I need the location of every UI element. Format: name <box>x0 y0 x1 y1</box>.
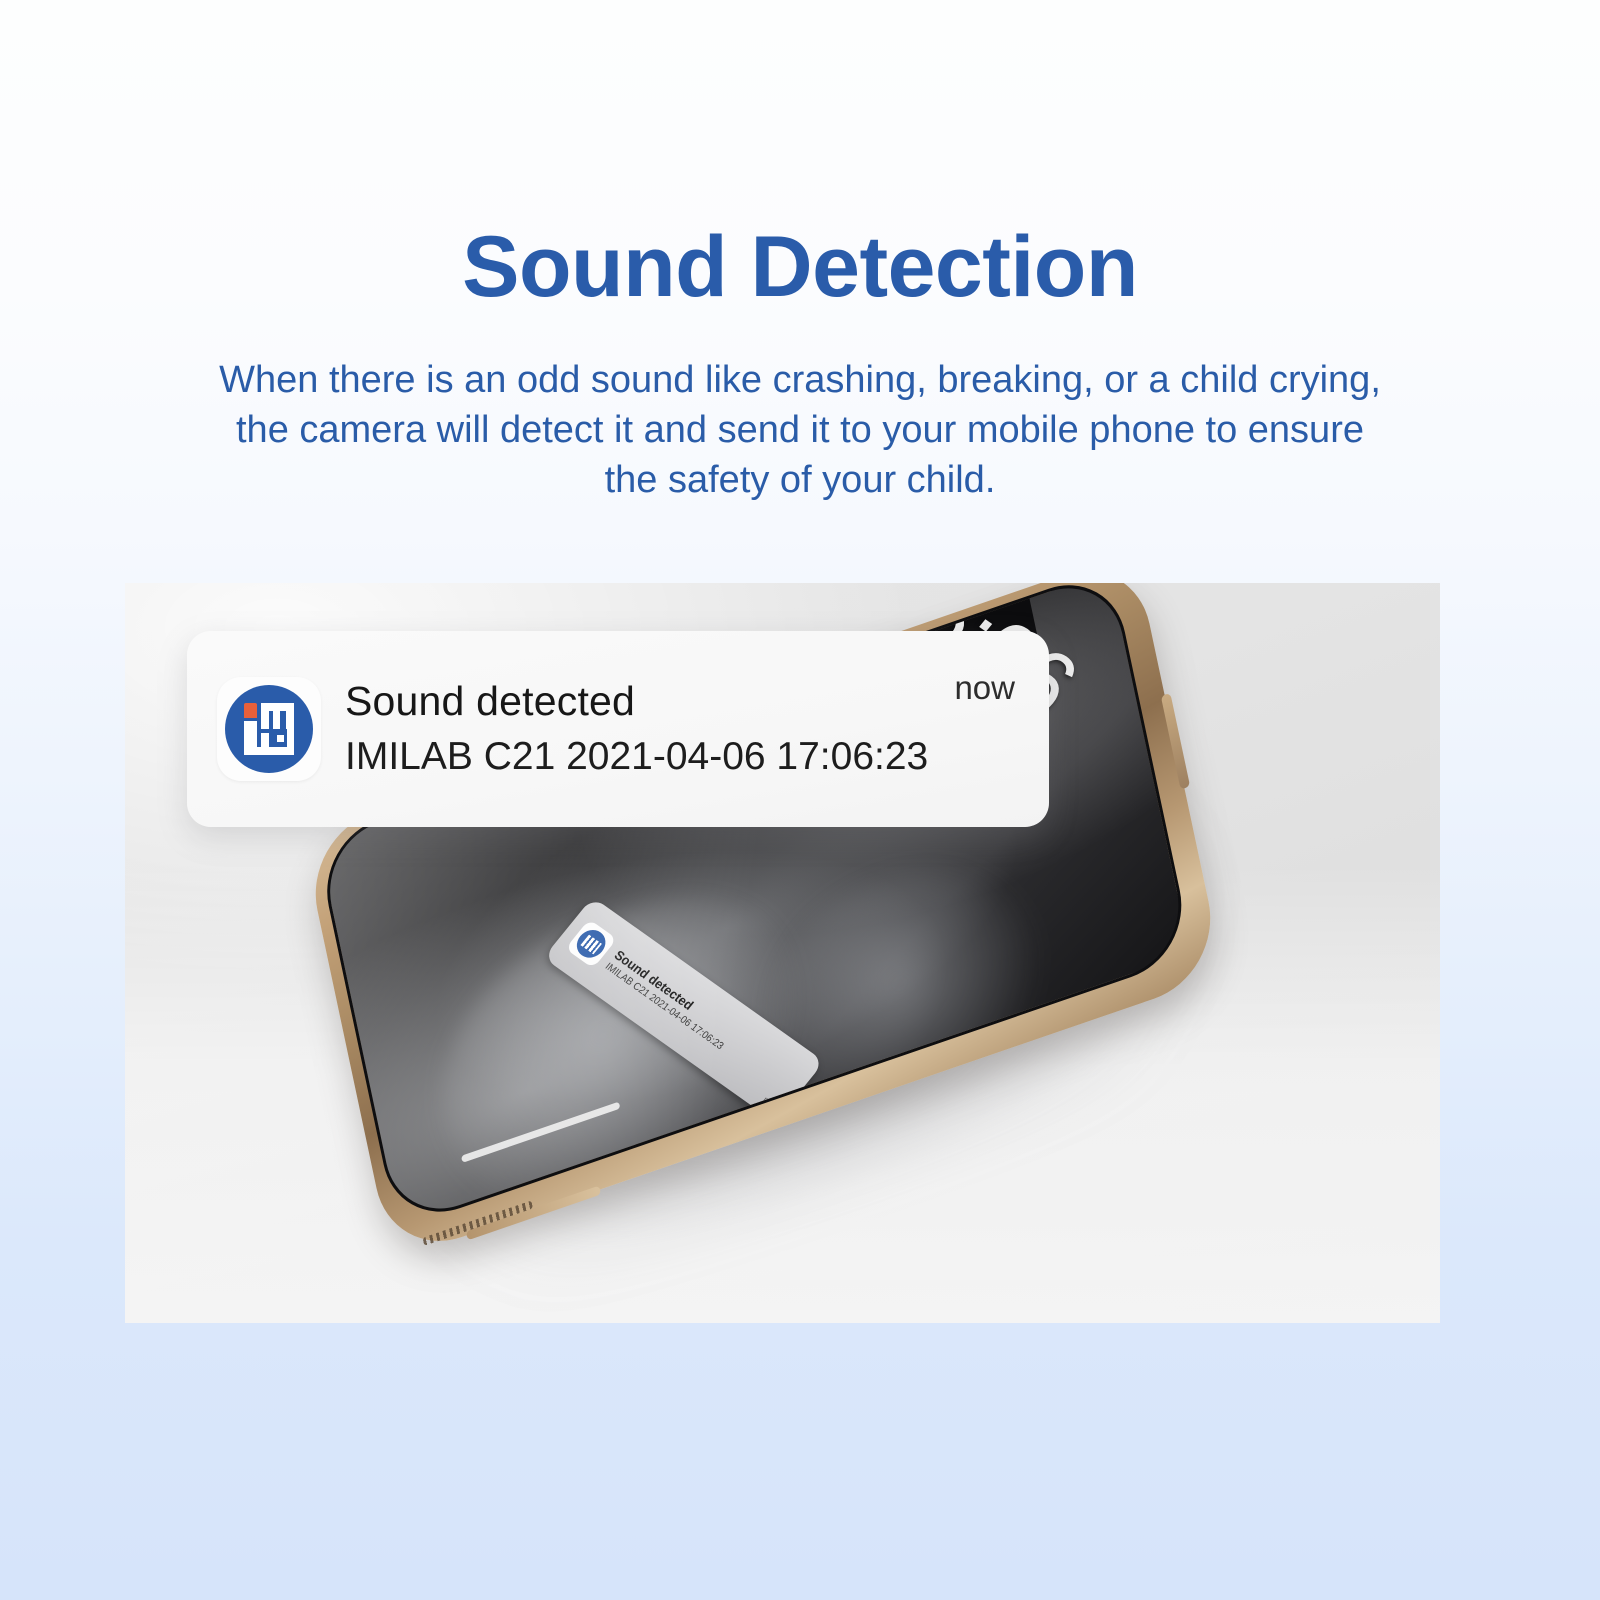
imilab-logo-icon <box>225 685 313 773</box>
page-subtitle: When there is an odd sound like crashing… <box>205 355 1395 505</box>
notification-title: Sound detected <box>345 680 954 723</box>
page-title: Sound Detection <box>0 222 1600 312</box>
imilab-glyph-icon <box>580 933 602 953</box>
app-icon <box>217 677 321 781</box>
notification-timestamp: now <box>954 669 1015 707</box>
notification-callout[interactable]: Sound detected IMILAB C21 2021-04-06 17:… <box>187 631 1049 827</box>
notification-subtitle: IMILAB C21 2021-04-06 17:06:23 <box>345 737 954 778</box>
product-image-panel: 5:06 4月6日 星期二 Sound detected IMILAB C21 … <box>125 583 1440 1323</box>
imilab-logo-icon <box>571 924 611 962</box>
